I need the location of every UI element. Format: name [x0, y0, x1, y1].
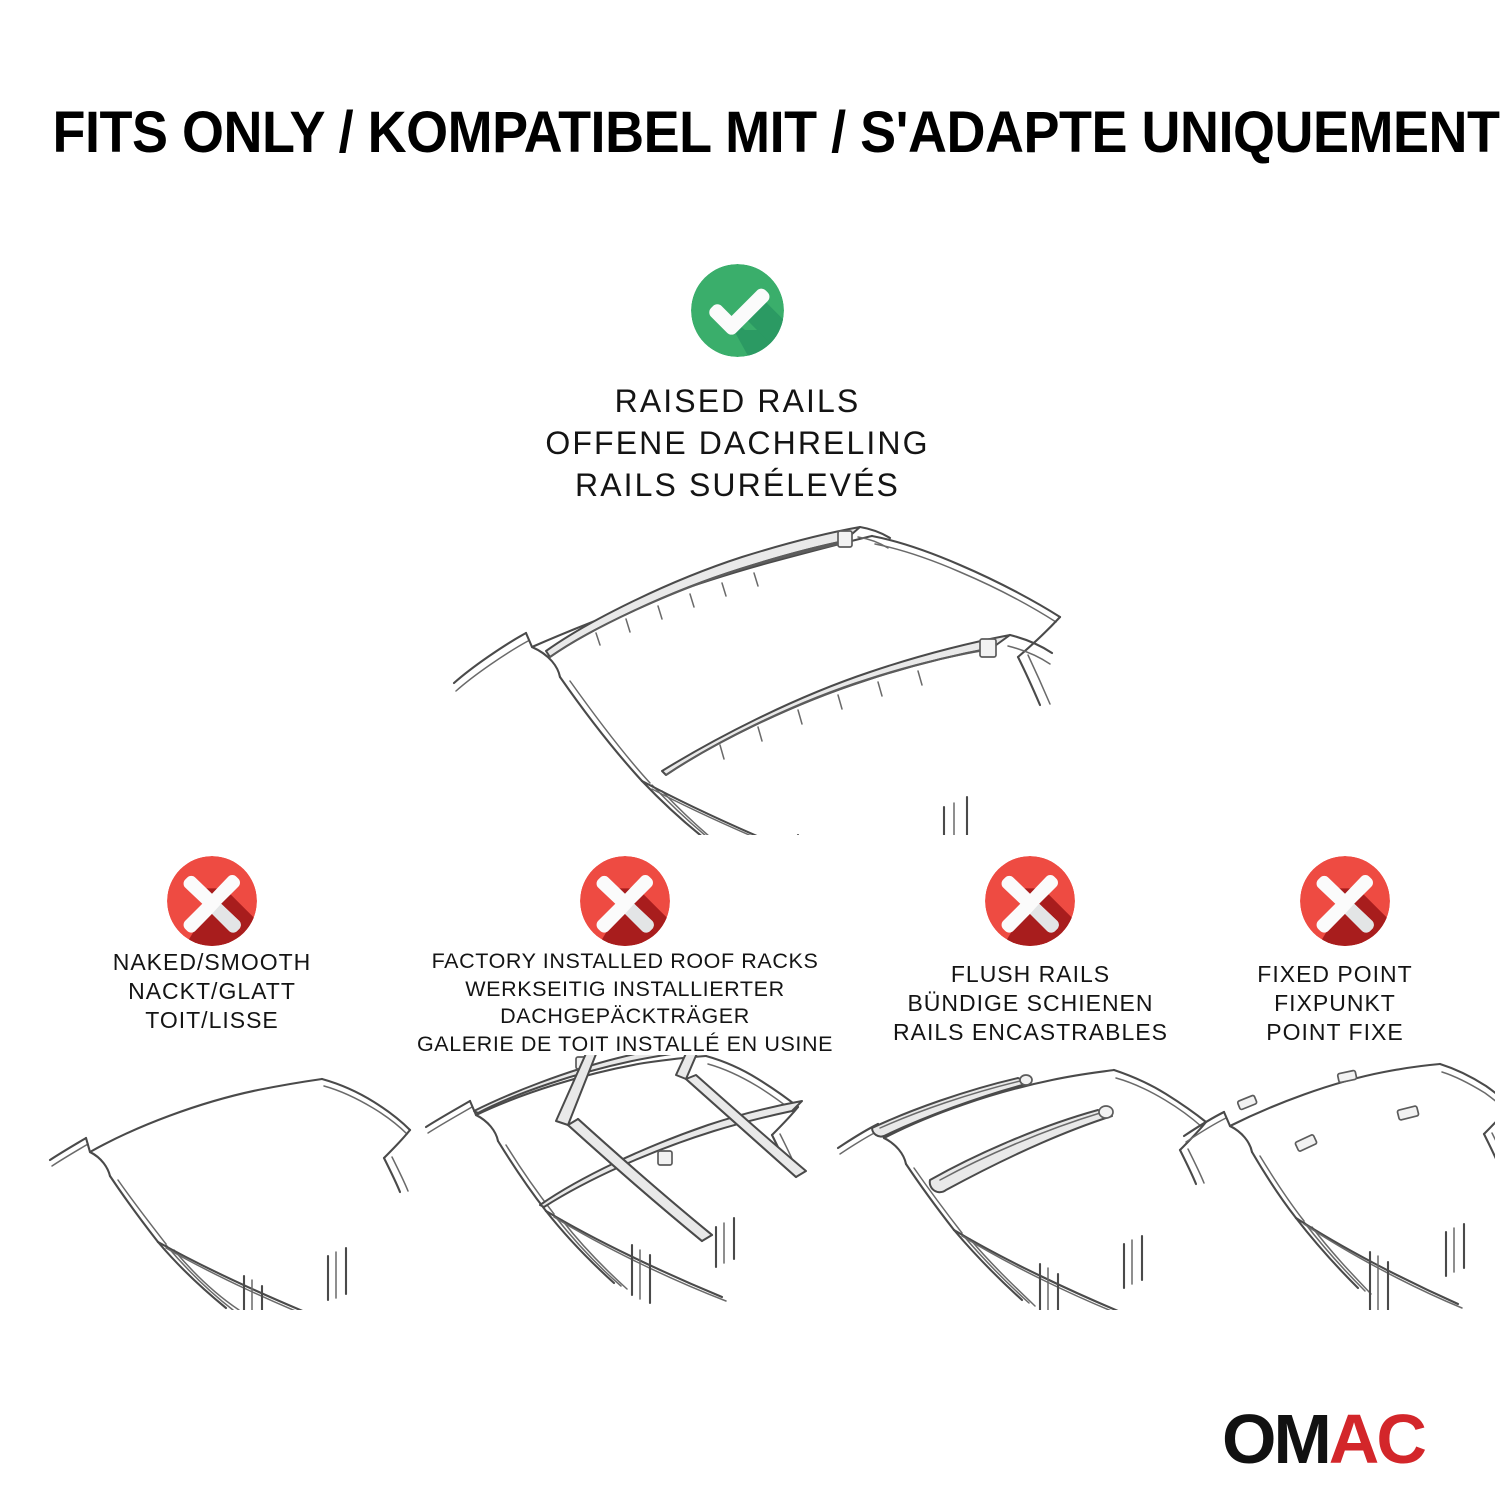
cross-circle-icon	[985, 856, 1075, 946]
incompatible-label-group-2: FACTORY INSTALLED ROOF RACKS WERKSEITIG …	[390, 948, 860, 1058]
incompatible-4-line-2: FIXPUNKT	[1175, 989, 1495, 1018]
omac-logo: OMAC	[1222, 1404, 1424, 1474]
compatible-label-line-3: RAILS SURÉLEVÉS	[400, 464, 1075, 506]
cross-circle-icon	[167, 856, 257, 946]
incompatible-label-group-3: FLUSH RAILS BÜNDIGE SCHIENEN RAILS ENCAS…	[838, 960, 1223, 1048]
compatible-label-group: RAISED RAILS OFFENE DACHRELING RAILS SUR…	[400, 380, 1075, 507]
incompatible-label-group-4: FIXED POINT FIXPUNKT POINT FIXE	[1175, 960, 1495, 1048]
car-roof-factory-racks	[420, 1055, 820, 1310]
incompatible-3-line-1: FLUSH RAILS	[838, 960, 1223, 989]
incompatible-4-line-1: FIXED POINT	[1175, 960, 1495, 989]
incompatible-2-line-2: WERKSEITIG INSTALLIERTER	[390, 976, 860, 1004]
incompatible-4-line-3: POINT FIXE	[1175, 1018, 1495, 1047]
car-roof-raised-rails	[420, 505, 1100, 835]
cross-circle-icon	[1300, 856, 1390, 946]
cross-circle-icon	[580, 856, 670, 946]
incompatible-2-line-1: FACTORY INSTALLED ROOF RACKS	[390, 948, 860, 976]
page-title: FITS ONLY / KOMPATIBEL MIT / S'ADAPTE UN…	[0, 104, 1500, 162]
incompatible-2-line-4: GALERIE DE TOIT INSTALLÉ EN USINE	[390, 1031, 860, 1059]
incompatible-label-group-1: NAKED/SMOOTH NACKT/GLATT TOIT/LISSE	[22, 948, 402, 1036]
incompatible-2-line-3: DACHGEPÄCKTRÄGER	[390, 1003, 860, 1031]
car-roof-naked-smooth	[40, 1060, 425, 1310]
incompatible-3-line-2: BÜNDIGE SCHIENEN	[838, 989, 1223, 1018]
car-roof-fixed-point	[1180, 1060, 1495, 1310]
incompatible-1-line-1: NAKED/SMOOTH	[22, 948, 402, 977]
page-title-text: FITS ONLY / KOMPATIBEL MIT / S'ADAPTE UN…	[53, 104, 1448, 162]
incompatible-3-line-3: RAILS ENCASTRABLES	[838, 1018, 1223, 1047]
incompatible-1-line-2: NACKT/GLATT	[22, 977, 402, 1006]
check-circle-icon	[691, 264, 784, 357]
incompatible-1-line-3: TOIT/LISSE	[22, 1006, 402, 1035]
logo-text-dark: OM	[1222, 1400, 1329, 1478]
compatible-label-line-1: RAISED RAILS	[400, 380, 1075, 422]
logo-text-red: AC	[1329, 1400, 1424, 1478]
compatible-label-line-2: OFFENE DACHRELING	[400, 422, 1075, 464]
car-roof-flush-rails	[830, 1060, 1225, 1310]
